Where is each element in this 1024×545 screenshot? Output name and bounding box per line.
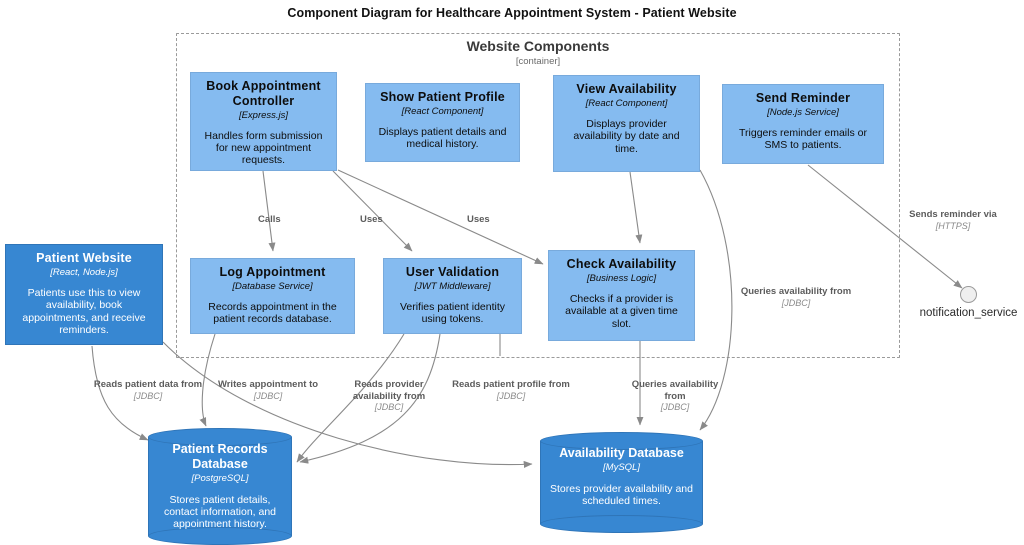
edge-label-tech: [JDBC] — [334, 402, 444, 413]
edge-label-queries-availability-from: Queries availability from [JDBC] — [620, 368, 730, 424]
edge-label-tech: [JDBC] — [620, 402, 730, 413]
node-description: Triggers reminder emails or SMS to patie… — [730, 127, 876, 152]
external-system-circle-icon — [960, 286, 977, 303]
node-availability-database[interactable]: Availability Database [MySQL] Stores pro… — [540, 432, 703, 533]
node-description: Displays patient details and medical his… — [373, 126, 512, 151]
node-description: Patients use this to view availability, … — [13, 287, 155, 337]
diagram-canvas: Component Diagram for Healthcare Appoint… — [0, 0, 1024, 545]
edge-label-sends-reminder-via: Sends reminder via [HTTPS] — [888, 198, 1018, 243]
edge-label-text: Queries availability from — [632, 379, 719, 401]
edge-label-text: Sends reminder via — [909, 209, 997, 220]
edge-label-text: Calls — [258, 214, 281, 225]
edge-label-queries-availability-from-right: Queries availability from [JDBC] — [736, 275, 856, 320]
container-title: Website Components — [177, 38, 899, 54]
edge-label-writes-appointment-to: Writes appointment to [JDBC] — [214, 368, 322, 413]
edge-label-reads-patient-profile-from: Reads patient profile from [JDBC] — [452, 368, 570, 413]
database-text: Availability Database [MySQL] Stores pro… — [540, 446, 703, 508]
edge-label-uses-1: Uses — [360, 203, 420, 226]
edge-label-text: Reads patient profile from — [452, 379, 570, 390]
node-tech: [JWT Middleware] — [414, 281, 490, 292]
node-notification-service[interactable]: notification_service — [960, 286, 977, 303]
node-title: Show Patient Profile — [380, 90, 505, 105]
node-title: View Availability — [576, 82, 676, 97]
node-show-patient-profile[interactable]: Show Patient Profile [React Component] D… — [365, 83, 520, 162]
node-description: Checks if a provider is available at a g… — [556, 293, 687, 330]
node-description: Stores patient details, contact informat… — [156, 494, 284, 531]
cylinder-bottom — [540, 515, 703, 533]
node-title: Check Availability — [567, 257, 677, 272]
node-description: Records appointment in the patient recor… — [198, 301, 347, 326]
edge-label-text: Reads provider availability from — [353, 379, 425, 401]
node-title: Log Appointment — [220, 265, 326, 280]
node-description: Verifies patient identity using tokens. — [391, 301, 514, 326]
edge-label-reads-provider-availability-from: Reads provider availability from [JDBC] — [334, 368, 444, 424]
node-title: User Validation — [406, 265, 499, 280]
node-patient-records-database[interactable]: Patient Records Database [PostgreSQL] St… — [148, 428, 292, 545]
node-user-validation[interactable]: User Validation [JWT Middleware] Verifie… — [383, 258, 522, 334]
edge-label-text: Queries availability from — [741, 286, 851, 297]
node-tech: [MySQL] — [548, 462, 695, 473]
container-subtitle: [container] — [177, 56, 899, 67]
node-tech: [Express.js] — [239, 110, 288, 121]
node-log-appointment[interactable]: Log Appointment [Database Service] Recor… — [190, 258, 355, 334]
edge-label-tech: [JDBC] — [736, 298, 856, 309]
node-description: Handles form submission for new appointm… — [198, 130, 329, 167]
edge-label-uses-2: Uses — [467, 203, 527, 226]
edge-label-text: Uses — [360, 214, 383, 225]
node-title: Patient Records Database — [156, 442, 284, 472]
node-patient-website[interactable]: Patient Website [React, Node.js] Patient… — [5, 244, 163, 345]
node-send-reminder[interactable]: Send Reminder [Node.js Service] Triggers… — [722, 84, 884, 164]
external-system-label: notification_service — [920, 307, 1018, 319]
node-title: Patient Website — [36, 251, 132, 266]
edge-label-tech: [JDBC] — [92, 391, 204, 402]
edge-label-tech: [JDBC] — [214, 391, 322, 402]
edge-label-tech: [HTTPS] — [888, 221, 1018, 232]
node-book-appointment-controller[interactable]: Book Appointment Controller [Express.js]… — [190, 72, 337, 171]
page-title: Component Diagram for Healthcare Appoint… — [0, 6, 1024, 20]
node-tech: [PostgreSQL] — [156, 473, 284, 484]
edge-label-reads-patient-data-from: Reads patient data from [JDBC] — [92, 368, 204, 413]
node-tech: [React Component] — [586, 98, 668, 109]
node-title: Send Reminder — [756, 91, 850, 106]
node-tech: [React Component] — [402, 106, 484, 117]
node-title: Availability Database — [548, 446, 695, 461]
edge-label-calls: Calls — [258, 203, 318, 226]
edge-label-text: Uses — [467, 214, 490, 225]
node-tech: [Node.js Service] — [767, 107, 839, 118]
node-description: Stores provider availability and schedul… — [548, 483, 695, 508]
node-title: Book Appointment Controller — [198, 79, 329, 109]
node-tech: [React, Node.js] — [50, 267, 118, 278]
database-text: Patient Records Database [PostgreSQL] St… — [148, 442, 292, 531]
node-tech: [Business Logic] — [587, 273, 656, 284]
node-view-availability[interactable]: View Availability [React Component] Disp… — [553, 75, 700, 172]
node-check-availability[interactable]: Check Availability [Business Logic] Chec… — [548, 250, 695, 341]
node-description: Displays provider availability by date a… — [561, 118, 692, 155]
edge-label-text: Writes appointment to — [218, 379, 318, 390]
edge-label-text: Reads patient data from — [94, 379, 202, 390]
edge-label-tech: [JDBC] — [452, 391, 570, 402]
node-tech: [Database Service] — [232, 281, 312, 292]
